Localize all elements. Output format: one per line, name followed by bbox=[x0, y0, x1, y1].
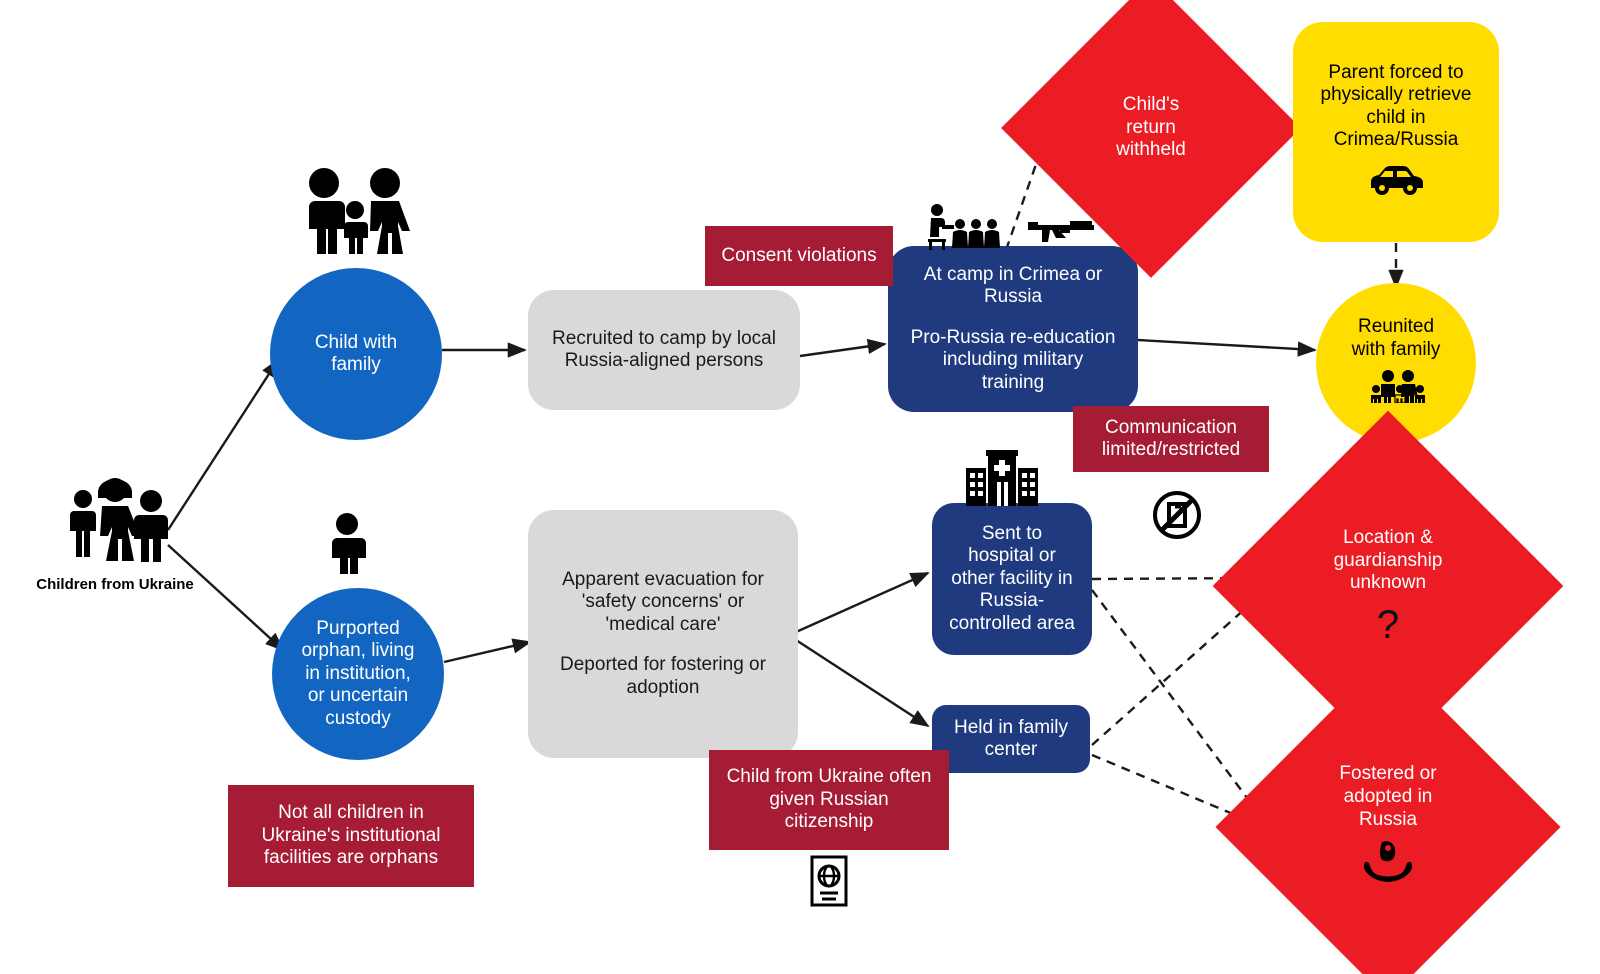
node-at-camp-label-2: Pro-Russia re-education including milita… bbox=[911, 327, 1116, 394]
hospital-icon bbox=[962, 450, 1040, 506]
node-fostered[interactable]: Fostered or adopted in Russia bbox=[1266, 705, 1510, 949]
node-at-camp-label-1: At camp in Crimea or Russia bbox=[924, 264, 1102, 309]
family-reunited-icon bbox=[1364, 369, 1428, 409]
parents-and-child-icon bbox=[300, 165, 410, 255]
node-purported-orphan[interactable]: Purported orphan, living in institution,… bbox=[272, 588, 444, 760]
annotation-not-all-orphans-label: Not all children in Ukraine's institutio… bbox=[262, 802, 441, 869]
node-hospital-label: Sent to hospital or other facility in Ru… bbox=[949, 523, 1075, 635]
node-parent-retrieve[interactable]: Parent forced to physically retrieve chi… bbox=[1293, 22, 1499, 242]
edge-recruited-to-camp bbox=[800, 344, 885, 356]
car-icon bbox=[1365, 162, 1427, 202]
edge-source-to-orphan bbox=[168, 545, 283, 650]
single-child-icon bbox=[325, 512, 369, 574]
node-recruited[interactable]: Recruited to camp by local Russia-aligne… bbox=[528, 290, 800, 410]
edge-orphan-to-evacuation bbox=[444, 642, 530, 662]
baby-in-hands-icon bbox=[1362, 840, 1414, 891]
node-reunited-label: Reunited with family bbox=[1352, 316, 1441, 361]
edge-evacuation-to-hospital bbox=[796, 573, 928, 632]
edge-source-to-child-with-family bbox=[168, 360, 278, 530]
node-child-with-family[interactable]: Child with family bbox=[270, 268, 442, 440]
annotation-russian-citizenship-label: Child from Ukraine often given Russian c… bbox=[727, 766, 932, 833]
edge-camp-to-reunited bbox=[1138, 340, 1315, 350]
annotation-communication-limited: Communication limited/restricted bbox=[1073, 406, 1269, 472]
node-return-withheld-label: Child's return withheld bbox=[1116, 94, 1186, 162]
diagram-canvas: Children from Ukraine Child with family … bbox=[0, 0, 1600, 974]
node-location-unknown-label: Location & guardianship unknown bbox=[1334, 527, 1443, 595]
node-evacuation[interactable]: Apparent evacuation for 'safety concerns… bbox=[528, 510, 798, 758]
node-hospital[interactable]: Sent to hospital or other facility in Ru… bbox=[932, 503, 1092, 655]
node-fostered-label: Fostered or adopted in Russia bbox=[1339, 763, 1436, 831]
node-family-center-label: Held in family center bbox=[954, 717, 1068, 762]
classroom-teacher-icon bbox=[922, 202, 1004, 250]
edge-family-center-to-location-unknown bbox=[1092, 592, 1264, 745]
node-evacuation-label-1: Apparent evacuation for 'safety concerns… bbox=[562, 569, 764, 636]
annotation-consent-violations-label: Consent violations bbox=[721, 245, 876, 267]
node-evacuation-label-2: Deported for fostering or adoption bbox=[560, 654, 766, 699]
node-return-withheld[interactable]: Child's return withheld bbox=[1045, 22, 1257, 234]
node-at-camp[interactable]: At camp in Crimea or Russia Pro-Russia r… bbox=[888, 246, 1138, 412]
node-family-center[interactable]: Held in family center bbox=[932, 705, 1090, 773]
passport-icon bbox=[808, 855, 850, 907]
question-mark-icon: ? bbox=[1377, 605, 1399, 645]
node-purported-orphan-label: Purported orphan, living in institution,… bbox=[301, 618, 414, 730]
annotation-consent-violations: Consent violations bbox=[705, 226, 893, 286]
source-caption: Children from Ukraine bbox=[0, 576, 230, 593]
edge-evacuation-to-family-center bbox=[796, 640, 928, 726]
edge-hospital-to-fostered bbox=[1092, 590, 1265, 822]
node-child-with-family-label: Child with family bbox=[315, 332, 397, 377]
annotation-communication-limited-label: Communication limited/restricted bbox=[1102, 417, 1240, 462]
family-group-icon bbox=[56, 474, 176, 564]
node-parent-retrieve-label: Parent forced to physically retrieve chi… bbox=[1321, 62, 1472, 152]
annotation-russian-citizenship: Child from Ukraine often given Russian c… bbox=[709, 750, 949, 850]
no-phone-icon bbox=[1147, 485, 1207, 545]
rifle-icon bbox=[1026, 216, 1098, 250]
annotation-not-all-orphans: Not all children in Ukraine's institutio… bbox=[228, 785, 474, 887]
node-recruited-label: Recruited to camp by local Russia-aligne… bbox=[552, 328, 776, 373]
